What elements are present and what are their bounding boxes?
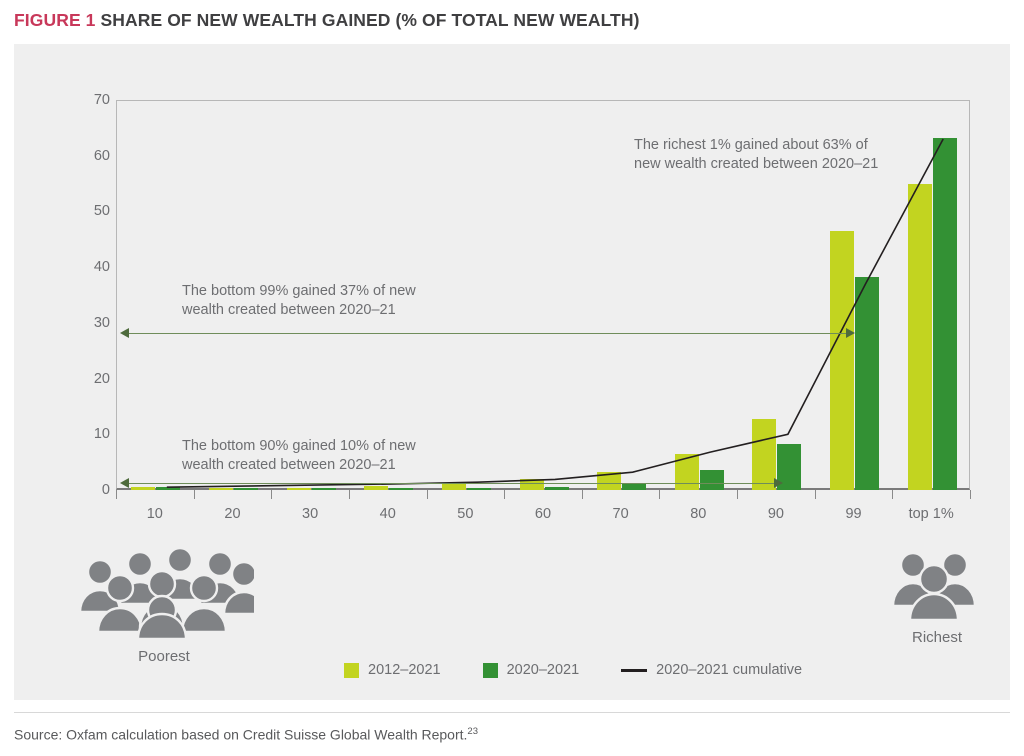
x-tick-mark: [194, 490, 195, 499]
legend-swatch-dark-green: [483, 663, 498, 678]
legend-item[interactable]: 2012–2021: [344, 662, 441, 678]
bar-2012-2021: [597, 472, 621, 490]
legend-item[interactable]: 2020–2021 cumulative: [621, 662, 802, 678]
y-tick-label: 40: [76, 259, 110, 275]
y-tick-label: 20: [76, 371, 110, 387]
arrow-line-bottom-99: [126, 333, 852, 334]
arrow-head-left-bottom-90: [120, 478, 129, 488]
figure-label: FIGURE 1: [14, 10, 96, 30]
x-tick-label: 30: [302, 506, 318, 522]
arrow-head-right-bottom-90: [774, 478, 783, 488]
x-tick-label: 90: [768, 506, 784, 522]
figure-title-text: SHARE OF NEW WEALTH GAINED (% OF TOTAL N…: [100, 10, 639, 30]
y-tick-label: 30: [76, 315, 110, 331]
y-tick-label: 60: [76, 148, 110, 164]
annotation-bottom-99: The bottom 99% gained 37% of new wealth …: [182, 282, 452, 320]
bar-2012-2021: [908, 184, 932, 490]
x-tick-label: 20: [224, 506, 240, 522]
annotation-richest-1: The richest 1% gained about 63% of new w…: [634, 136, 944, 174]
x-tick-label: 60: [535, 506, 551, 522]
x-tick-mark: [504, 490, 505, 499]
bar-2012-2021: [752, 419, 776, 490]
x-tick-mark: [349, 490, 350, 499]
legend-item[interactable]: 2020–2021: [483, 662, 580, 678]
crowd-people-icon: [76, 544, 254, 639]
y-tick-label: 0: [76, 482, 110, 498]
three-people-icon: [891, 548, 977, 620]
arrow-head-left-bottom-99: [120, 328, 129, 338]
y-tick-label: 70: [76, 92, 110, 108]
poorest-label: Poorest: [138, 648, 190, 665]
legend-line-black: [621, 669, 647, 672]
x-tick-mark: [271, 490, 272, 499]
y-axis: 010203040506070: [74, 100, 110, 492]
source-footnote: 23: [467, 726, 478, 737]
legend-label: 2020–2021 cumulative: [656, 662, 802, 678]
bar-2012-2021: [675, 454, 699, 490]
x-tick-mark: [970, 490, 971, 499]
source-text: Source: Oxfam calculation based on Credi…: [14, 727, 467, 743]
x-tick-mark: [659, 490, 660, 499]
arrow-line-bottom-90: [126, 483, 780, 484]
richest-label: Richest: [912, 629, 962, 646]
y-tick-label: 50: [76, 203, 110, 219]
source-note: Source: Oxfam calculation based on Credi…: [14, 726, 478, 743]
x-tick-label: 10: [147, 506, 163, 522]
bar-2020-2021: [933, 138, 957, 490]
legend-label: 2012–2021: [368, 662, 441, 678]
y-tick-label: 10: [76, 426, 110, 442]
bar-2012-2021: [520, 479, 544, 490]
bar-2012-2021: [830, 231, 854, 490]
legend: 2012–20212020–20212020–2021 cumulative: [344, 658, 844, 682]
source-divider: [14, 712, 1010, 713]
legend-label: 2020–2021: [507, 662, 580, 678]
x-tick-mark: [737, 490, 738, 499]
x-tick-mark: [892, 490, 893, 499]
arrow-head-right-bottom-99: [846, 328, 855, 338]
x-tick-label: top 1%: [909, 506, 954, 522]
x-tick-mark: [815, 490, 816, 499]
x-tick-mark: [582, 490, 583, 499]
bar-2020-2021: [700, 470, 724, 490]
x-tick-mark: [116, 490, 117, 499]
x-tick-label: 70: [613, 506, 629, 522]
x-tick-label: 80: [690, 506, 706, 522]
x-tick-label: 99: [845, 506, 861, 522]
bar-2020-2021: [855, 277, 879, 490]
x-tick-label: 40: [380, 506, 396, 522]
annotation-bottom-90: The bottom 90% gained 10% of new wealth …: [182, 437, 452, 475]
legend-swatch-light-green: [344, 663, 359, 678]
chart-panel: 010203040506070 The bottom 99% gained 37…: [14, 44, 1010, 700]
page-title: FIGURE 1 SHARE OF NEW WEALTH GAINED (% O…: [14, 10, 1004, 36]
x-axis: 10203040506070809099top 1%: [116, 490, 972, 534]
x-tick-mark: [427, 490, 428, 499]
x-tick-label: 50: [457, 506, 473, 522]
